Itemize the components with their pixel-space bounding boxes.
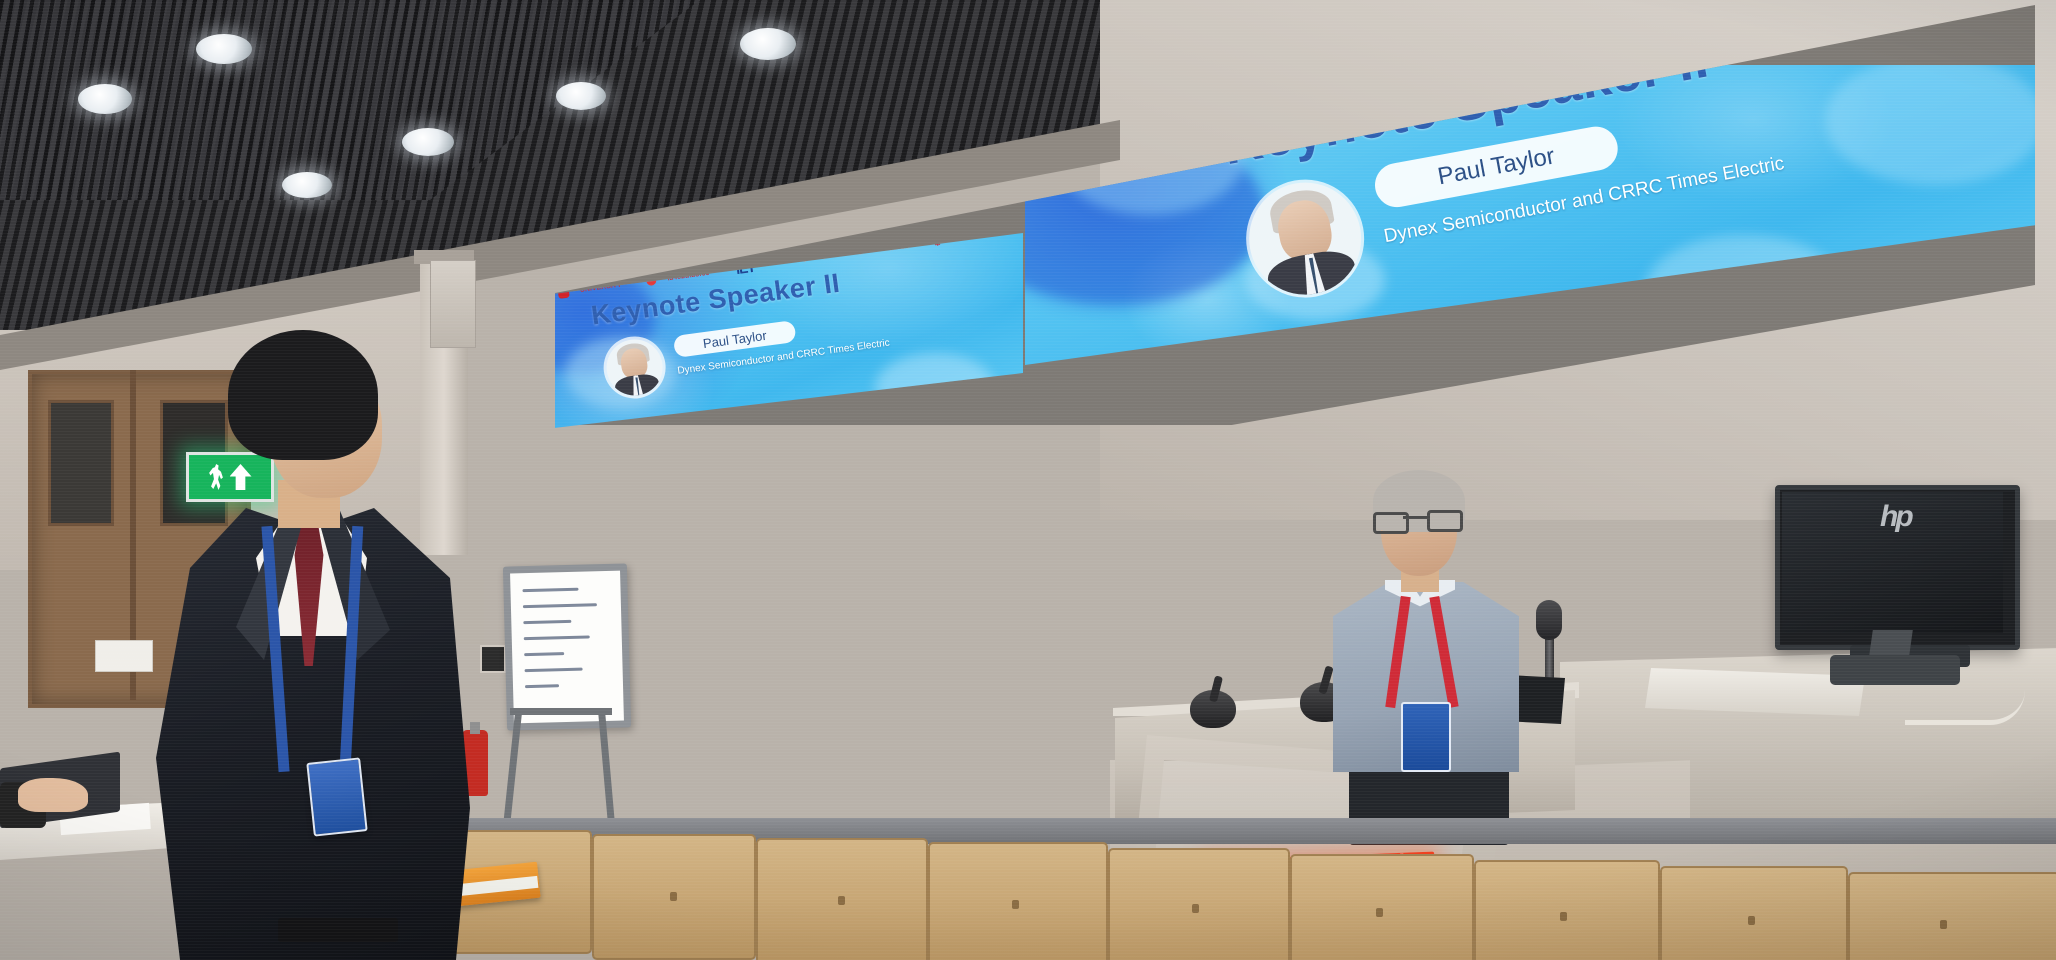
ceiling-downlight	[402, 128, 454, 156]
chair-block-left: Chair: Prof. Zhongbei Tian University of…	[676, 404, 787, 429]
wall-socket[interactable]	[480, 645, 506, 673]
university-logo-text: UNIVERSITY	[579, 281, 622, 293]
seat[interactable]	[1848, 872, 2056, 960]
seating-row	[440, 830, 2056, 960]
led-panel-left[interactable]: UNIVERSITY \u4e2d\u8f66 IET Institution …	[545, 233, 1023, 429]
belt	[278, 918, 398, 942]
seated-attendee-hand	[18, 778, 88, 812]
ceiling-downlight	[78, 84, 132, 114]
speaker-name-left: Paul Taylor	[702, 327, 767, 350]
presenter-at-podium	[1315, 470, 1535, 770]
university-crest-logo	[557, 286, 569, 298]
seat[interactable]	[1660, 866, 1848, 960]
partner-logo-text: \u4e2d\u8f66	[667, 269, 710, 282]
door-room-sign	[95, 640, 153, 672]
chair-org-right: University of Birmingham	[1331, 322, 1476, 363]
ceiling-downlight	[556, 82, 606, 110]
door-window-left	[48, 400, 114, 526]
ceiling-downlight	[196, 34, 252, 64]
conference-badge	[306, 757, 367, 836]
ceiling-downlight	[282, 172, 332, 198]
chair-label-right: Chair:	[1277, 335, 1314, 356]
audience-member-foreground	[150, 330, 480, 960]
gooseneck-microphone-head	[1536, 600, 1562, 640]
iet-wordmark: Institution of Engineering and Technolog…	[765, 249, 865, 268]
hair	[228, 330, 378, 460]
glasses-lens-right	[1427, 510, 1463, 532]
ceiling-downlight	[740, 28, 796, 60]
iet-logo: IET	[735, 259, 756, 277]
speaker-name-right: Paul Taylor	[1436, 142, 1557, 191]
chair-label-left: Chair:	[676, 416, 697, 428]
speaker-headshot-left	[603, 336, 666, 399]
presenter-conference-badge	[1401, 702, 1451, 772]
monitor-base	[1830, 655, 1960, 685]
seat[interactable]	[1290, 854, 1474, 960]
partner-circle-logo	[646, 275, 657, 286]
intec-logo: INTEC	[889, 242, 911, 252]
desk-cable	[1905, 690, 2025, 725]
speaker-headshot-right	[1240, 173, 1370, 303]
seat[interactable]	[1108, 848, 1290, 960]
cog-partner-logo: ⚙	[932, 236, 942, 248]
hp-logo: hp	[1880, 500, 1940, 534]
chair-org-left: University of Birmingham	[703, 413, 787, 429]
lecture-theatre-photo: UNIVERSITY \u4e2d\u8f66 IET Institution …	[0, 0, 2056, 960]
glasses-bridge	[1403, 516, 1429, 519]
seat[interactable]	[1474, 860, 1660, 960]
